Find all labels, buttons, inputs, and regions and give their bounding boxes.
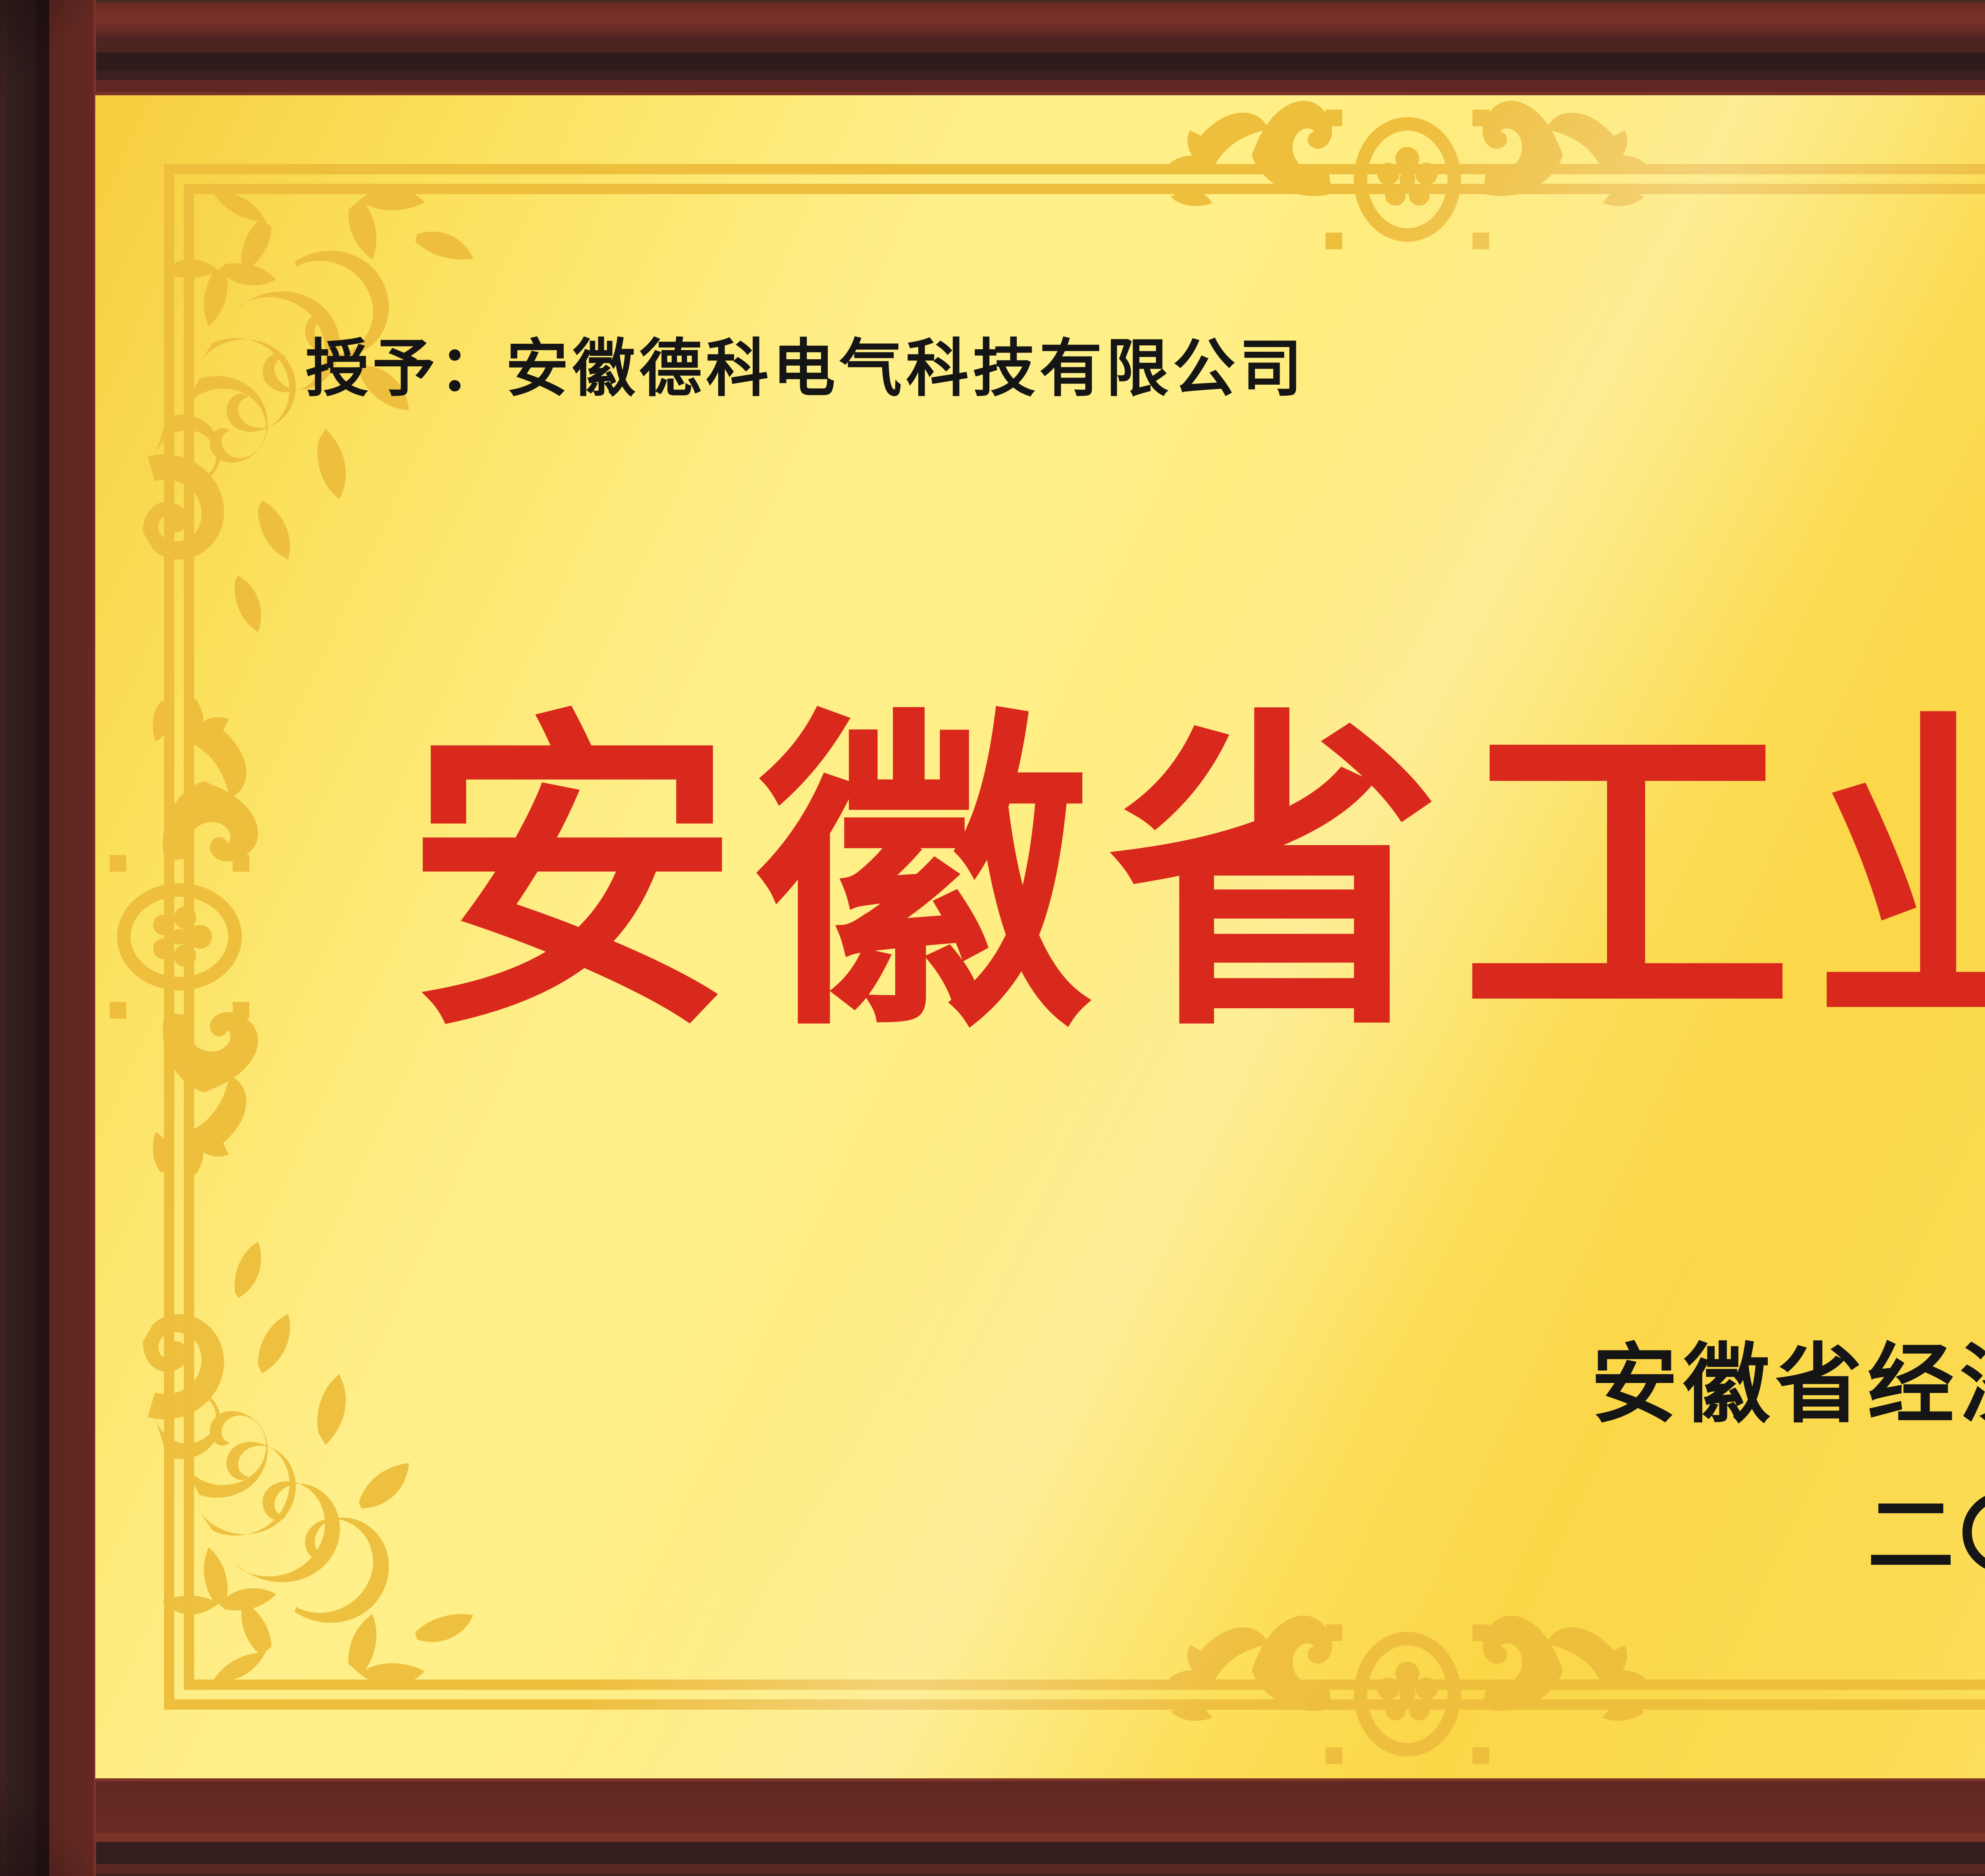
frame-band-bottom xyxy=(0,1782,1985,1833)
corner-ornament-bottom-left xyxy=(143,1242,473,1686)
frame-band-left xyxy=(6,0,37,1876)
frame-band-left xyxy=(49,0,94,1876)
frame-band-top xyxy=(0,37,1985,52)
frame-band-bottom xyxy=(0,1842,1985,1864)
frame-band-top xyxy=(0,20,1985,37)
recipient-line: 授予：安徽德科电气科技有限公司 xyxy=(306,318,1306,408)
frame-band-top xyxy=(0,70,1985,80)
corner-ornament-top-left xyxy=(143,188,473,632)
medallion-bottom xyxy=(1169,1616,1646,1764)
frame-band-top xyxy=(0,52,1985,70)
frame-band-left xyxy=(37,0,49,1876)
frame-band-bottom xyxy=(0,1778,1985,1782)
frame-band-left xyxy=(0,0,6,1876)
frame-band-bottom xyxy=(0,1874,1985,1876)
issuing-authority: 安徽省经济和信息化厅 xyxy=(1591,1314,1985,1439)
frame-band-bottom xyxy=(0,1864,1985,1874)
award-title: 安徽省工业设计中心 xyxy=(405,711,1985,1044)
frame-band-top xyxy=(0,0,1985,3)
award-plaque: 授予：安徽德科电气科技有限公司 安徽省工业设计中心 安徽省经济和信息化厅 二〇二… xyxy=(0,0,1985,1876)
frame-band-top xyxy=(0,80,1985,92)
frame-band-bottom xyxy=(0,1833,1985,1842)
medallion-left xyxy=(110,699,258,1175)
frame-band-top xyxy=(0,3,1985,20)
medallion-top xyxy=(1169,101,1646,249)
issue-date: 二〇二〇年七月 xyxy=(1867,1465,1985,1590)
frame-band-top xyxy=(0,92,1985,95)
